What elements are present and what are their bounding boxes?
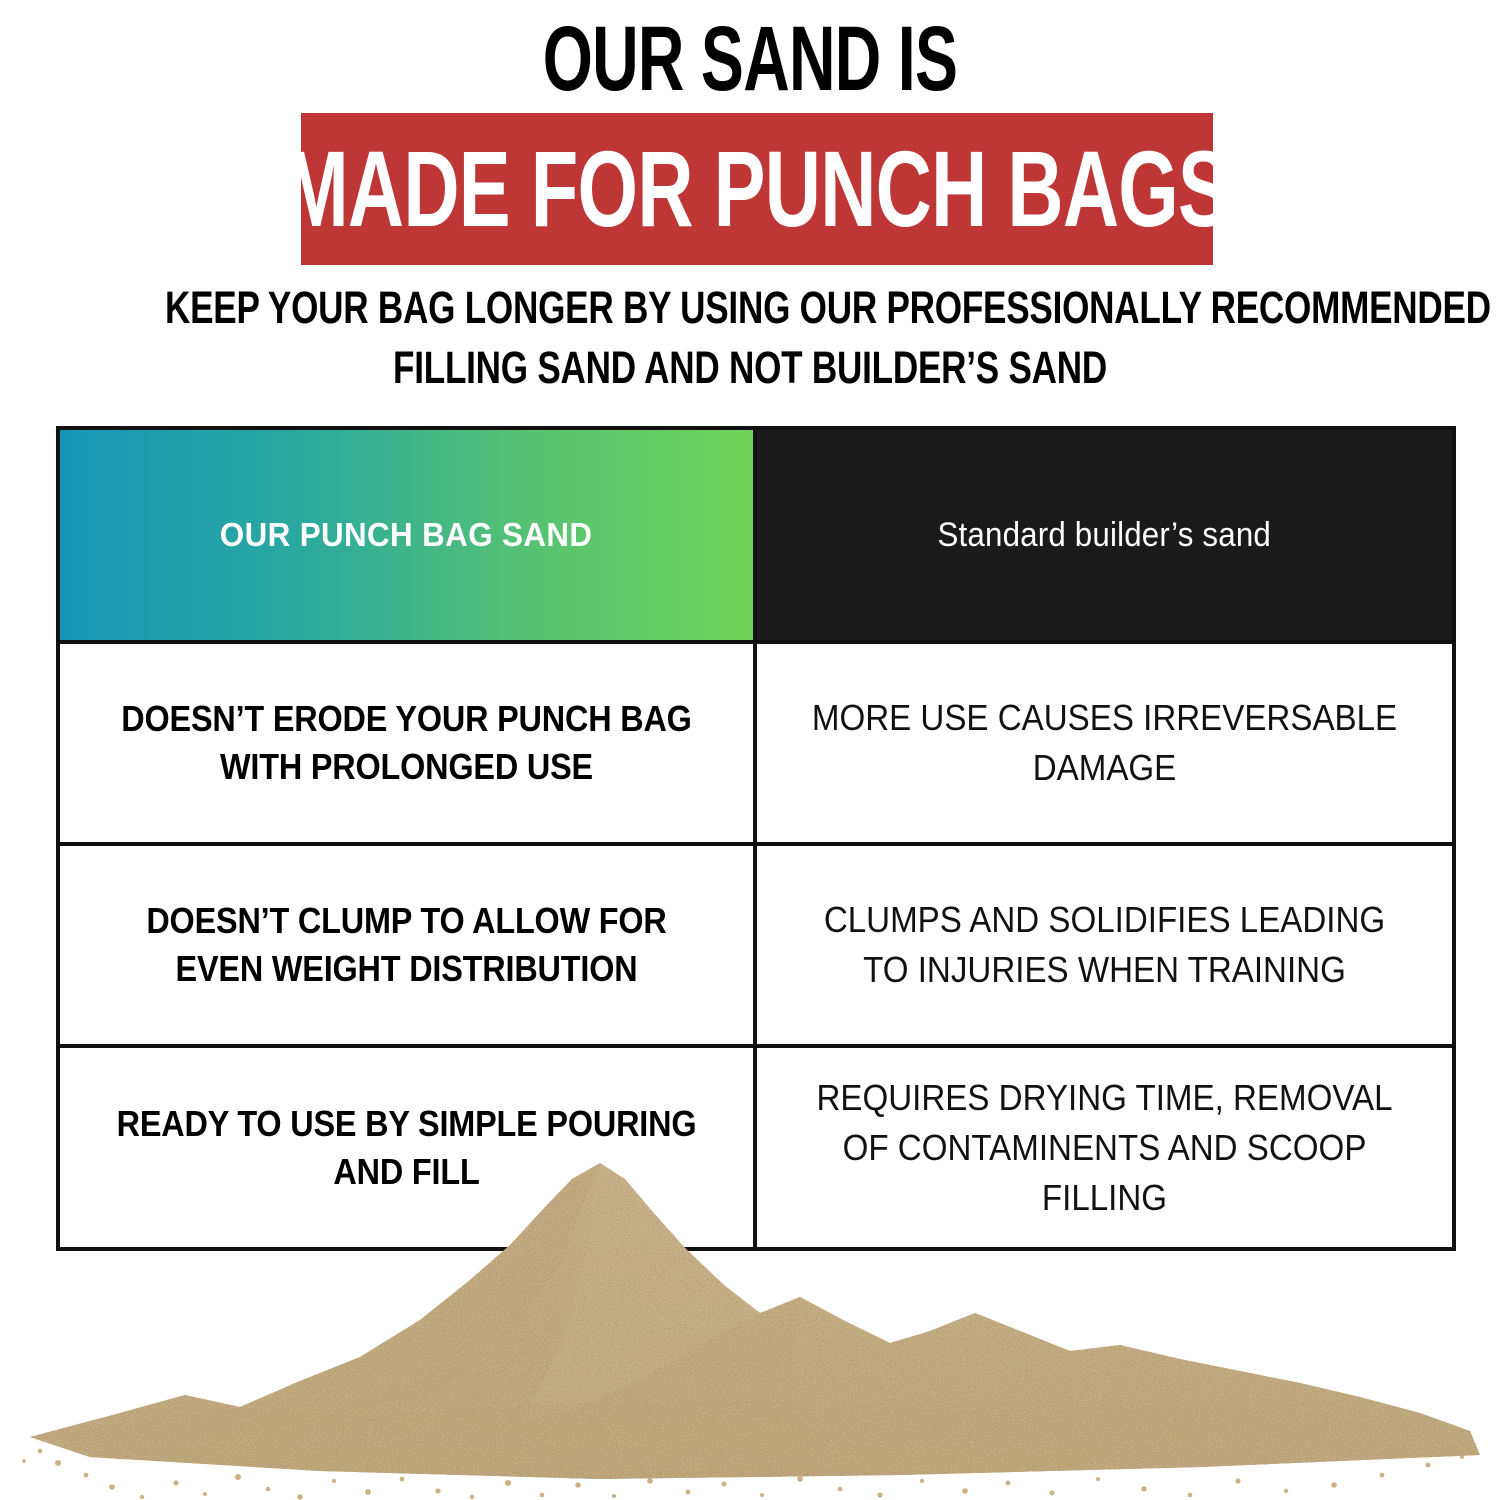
- table-cell-ours: DOESN’T CLUMP TO ALLOW FOR EVEN WEIGHT D…: [58, 844, 755, 1046]
- table-cell-theirs-text: REQUIRES DRYING TIME, REMOVAL OF CONTAMI…: [800, 1073, 1410, 1223]
- table-cell-theirs: MORE USE CAUSES IRREVERSABLE DAMAGE: [755, 642, 1454, 844]
- table-header-theirs-label: Standard builder’s sand: [938, 516, 1271, 555]
- table-row: DOESN’T CLUMP TO ALLOW FOR EVEN WEIGHT D…: [58, 844, 1454, 1046]
- table-header-ours: OUR PUNCH BAG SAND: [58, 428, 755, 642]
- table-cell-theirs-text: MORE USE CAUSES IRREVERSABLE DAMAGE: [800, 693, 1410, 793]
- headline-banner: MADE FOR PUNCH BAGS: [301, 113, 1213, 265]
- table-cell-theirs: CLUMPS AND SOLIDIFIES LEADING TO INJURIE…: [755, 844, 1454, 1046]
- table-cell-ours-text: DOESN’T CLUMP TO ALLOW FOR EVEN WEIGHT D…: [109, 897, 704, 993]
- table-header-ours-label: OUR PUNCH BAG SAND: [220, 516, 593, 554]
- subheadline: KEEP YOUR BAG LONGER BY USING OUR PROFES…: [0, 278, 1500, 398]
- table-row: DOESN’T ERODE YOUR PUNCH BAG WITH PROLON…: [58, 642, 1454, 844]
- headline-block: OUR SAND IS: [0, 0, 1500, 110]
- page-title: OUR SAND IS: [225, 0, 1275, 110]
- table-header-theirs: Standard builder’s sand: [755, 428, 1454, 642]
- comparison-table: OUR PUNCH BAG SAND Standard builder’s sa…: [56, 426, 1456, 1251]
- table-cell-ours: DOESN’T ERODE YOUR PUNCH BAG WITH PROLON…: [58, 642, 755, 844]
- subheadline-line-2: FILLING SAND AND NOT BUILDER’S SAND: [165, 338, 1335, 398]
- subheadline-line-1: KEEP YOUR BAG LONGER BY USING OUR PROFES…: [165, 278, 1335, 338]
- table-cell-ours: READY TO USE BY SIMPLE POURING AND FILL: [58, 1046, 755, 1249]
- table-cell-ours-text: READY TO USE BY SIMPLE POURING AND FILL: [109, 1100, 704, 1196]
- sand-grains: [22, 1449, 1464, 1500]
- table-cell-theirs-text: CLUMPS AND SOLIDIFIES LEADING TO INJURIE…: [800, 895, 1410, 995]
- table-row: READY TO USE BY SIMPLE POURING AND FILL …: [58, 1046, 1454, 1249]
- headline-banner-text: MADE FOR PUNCH BAGS: [301, 133, 1213, 245]
- table-cell-ours-text: DOESN’T ERODE YOUR PUNCH BAG WITH PROLON…: [109, 695, 704, 791]
- table-header-row: OUR PUNCH BAG SAND Standard builder’s sa…: [58, 428, 1454, 642]
- table-cell-theirs: REQUIRES DRYING TIME, REMOVAL OF CONTAMI…: [755, 1046, 1454, 1249]
